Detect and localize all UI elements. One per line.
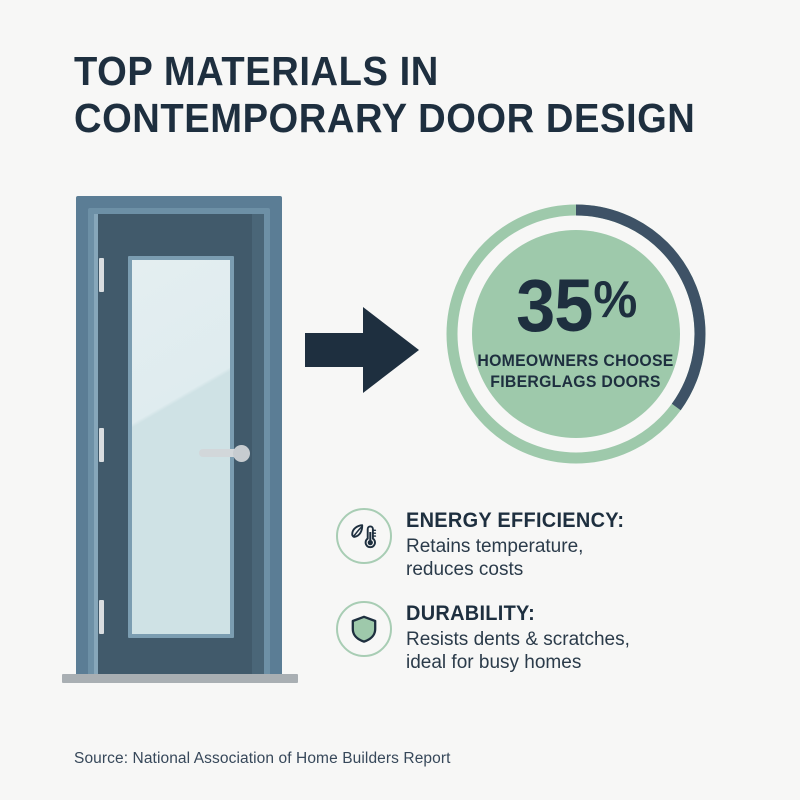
- feature-icon-circle-energy: [336, 508, 392, 564]
- door-hinge-middle: [99, 428, 104, 462]
- door-handle-rosette: [233, 445, 250, 462]
- page-title-line-2: CONTEMPORARY DOOR DESIGN: [74, 95, 669, 142]
- feature-desc-energy: Retains temperature, reduces costs: [406, 535, 636, 581]
- shield-icon: [349, 614, 379, 644]
- donut-chart-svg: [440, 198, 712, 470]
- door-threshold: [62, 674, 298, 683]
- door-slab-edge: [94, 214, 98, 676]
- leaf-thermometer-icon: [349, 521, 379, 551]
- page-title: TOP MATERIALS IN CONTEMPORARY DOOR DESIG…: [74, 48, 669, 142]
- donut-chart: 35% HOMEOWNERS CHOOSE FIBERGLAGS DOORS: [440, 198, 712, 470]
- feature-text-durability: DURABILITY: Resists dents & scratches, i…: [406, 601, 630, 674]
- infographic-canvas: TOP MATERIALS IN CONTEMPORARY DOOR DESIG…: [0, 0, 800, 800]
- door-hinge-top: [99, 258, 104, 292]
- feature-list: ENERGY EFFICIENCY: Retains temperature, …: [336, 508, 756, 694]
- feature-desc-durability-line-1: Resists dents & scratches,: [406, 628, 630, 651]
- feature-desc-energy-line-1: Retains temperature,: [406, 535, 636, 558]
- feature-item-energy-efficiency: ENERGY EFFICIENCY: Retains temperature, …: [336, 508, 756, 581]
- donut-inner-disc: [472, 230, 680, 438]
- feature-text-energy: ENERGY EFFICIENCY: Retains temperature, …: [406, 508, 636, 581]
- door-right-stile: [252, 214, 264, 676]
- door-illustration: [62, 196, 302, 686]
- feature-title-durability: DURABILITY:: [406, 602, 619, 626]
- right-arrow-icon: [305, 305, 420, 395]
- feature-desc-energy-line-2: reduces costs: [406, 558, 636, 581]
- feature-desc-durability: Resists dents & scratches, ideal for bus…: [406, 628, 630, 674]
- feature-item-durability: DURABILITY: Resists dents & scratches, i…: [336, 601, 756, 674]
- source-note: Source: National Association of Home Bui…: [74, 750, 451, 768]
- door-hinge-bottom: [99, 600, 104, 634]
- door-glass-panel: [132, 260, 230, 634]
- feature-title-energy: ENERGY EFFICIENCY:: [406, 509, 624, 533]
- feature-desc-durability-line-2: ideal for busy homes: [406, 651, 630, 674]
- page-title-line-1: TOP MATERIALS IN: [74, 48, 669, 95]
- feature-icon-circle-durability: [336, 601, 392, 657]
